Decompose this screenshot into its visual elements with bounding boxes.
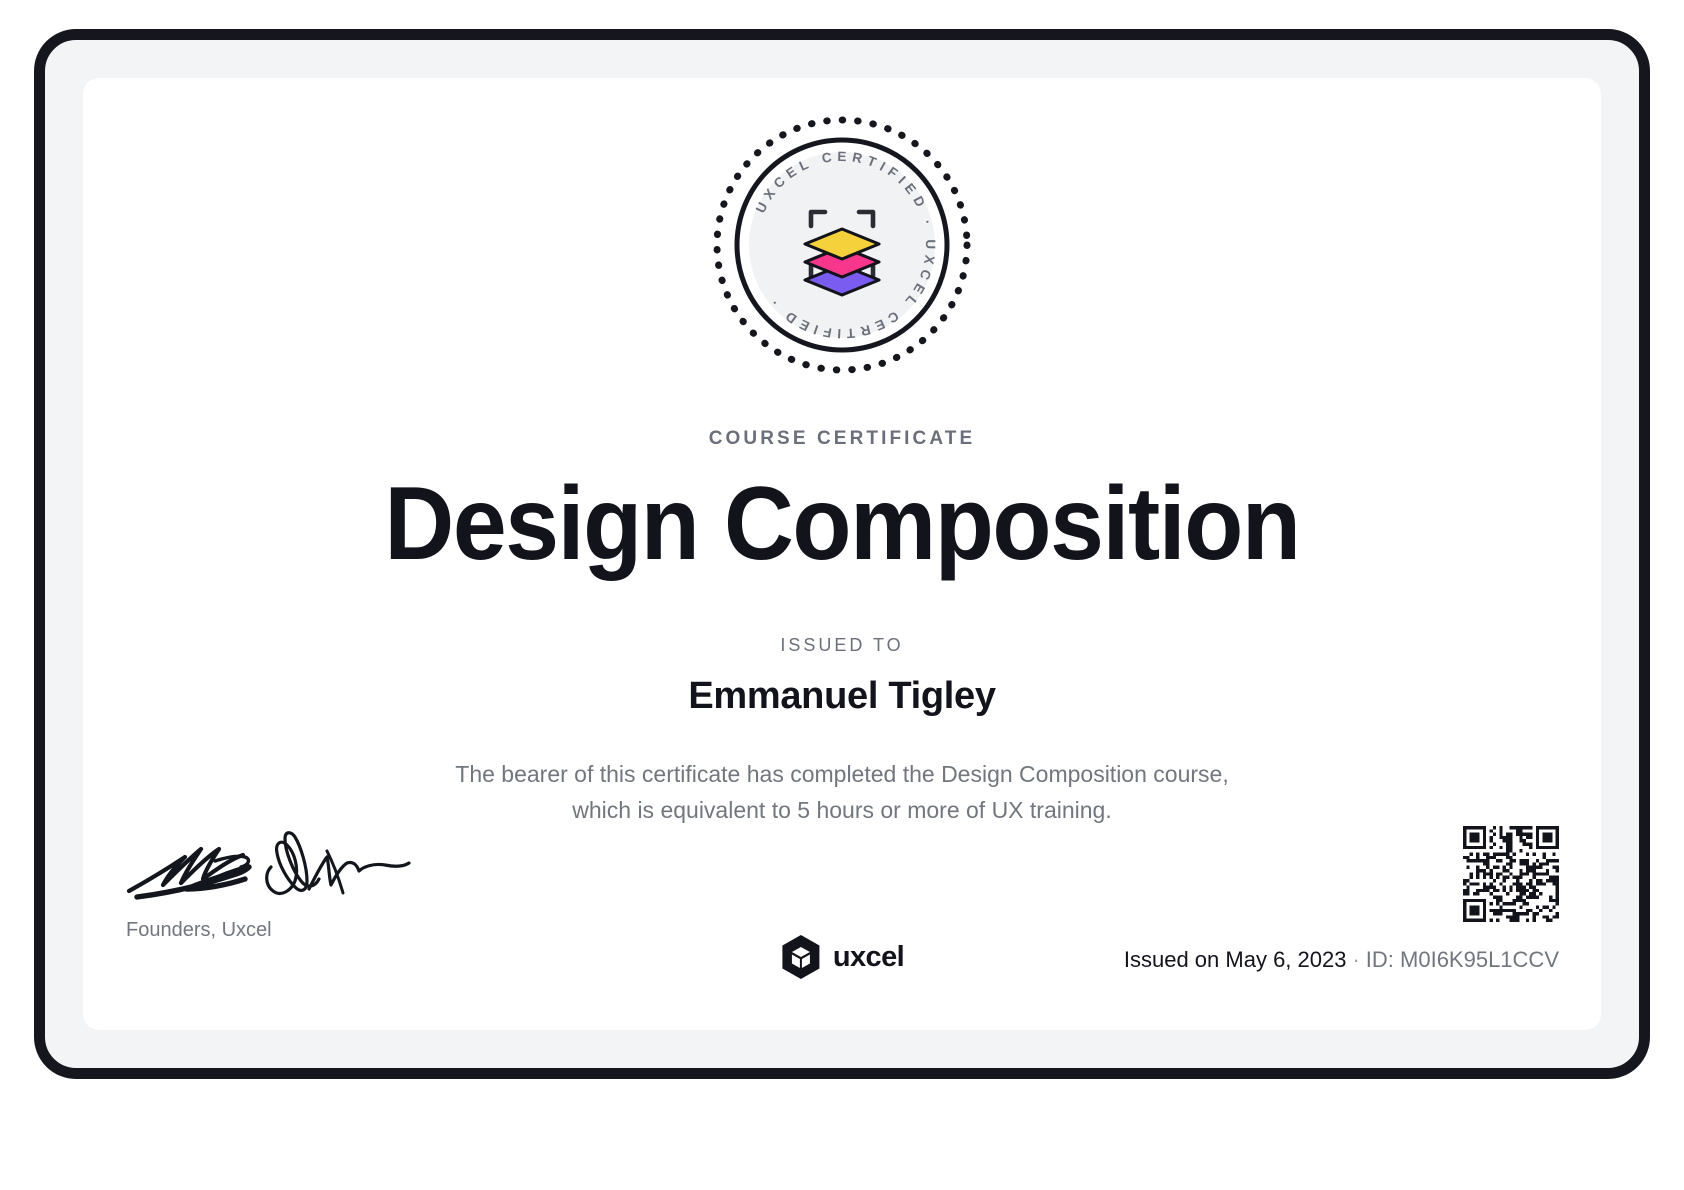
course-title: Design Composition	[136, 468, 1548, 580]
uxcel-cube-hexagon-logo	[780, 934, 822, 980]
uxcel-brand-logo: uxcel	[780, 934, 904, 980]
verification-qr-code[interactable]	[1463, 826, 1559, 922]
issued-to-label: ISSUED TO	[83, 635, 1601, 656]
signature-stroke-5	[309, 857, 409, 889]
qr-graphic	[1463, 826, 1559, 922]
description-line-1: The bearer of this certificate has compl…	[392, 756, 1292, 792]
founder-signatures	[123, 823, 413, 909]
recipient-name: Emmanuel Tigley	[83, 673, 1601, 719]
certificate-description: The bearer of this certificate has compl…	[392, 756, 1292, 828]
signature-caption: Founders, Uxcel	[123, 919, 453, 942]
signature-block: Founders, Uxcel	[123, 823, 453, 942]
uxcel-certified-seal: UXCEL CERTIFIED · UXCEL CERTIFIED ·	[707, 110, 977, 380]
seal-graphic: UXCEL CERTIFIED · UXCEL CERTIFIED ·	[707, 110, 977, 380]
issued-on-text: Issued on May 6, 2023	[1124, 947, 1347, 972]
kicker-label: COURSE CERTIFICATE	[83, 428, 1601, 450]
certificate-id: ID: M0I6K95L1CCV	[1366, 947, 1559, 972]
meta-separator: ·	[1352, 947, 1359, 972]
description-line-2: which is equivalent to 5 hours or more o…	[392, 792, 1292, 828]
certificate-card: UXCEL CERTIFIED · UXCEL CERTIFIED ·	[83, 78, 1601, 1030]
issue-meta: Issued on May 6, 2023·ID: M0I6K95L1CCV	[1124, 947, 1559, 973]
layers-stack-icon	[805, 229, 879, 295]
certificate-frame: UXCEL CERTIFIED · UXCEL CERTIFIED ·	[34, 29, 1650, 1079]
uxcel-wordmark: uxcel	[833, 941, 904, 974]
